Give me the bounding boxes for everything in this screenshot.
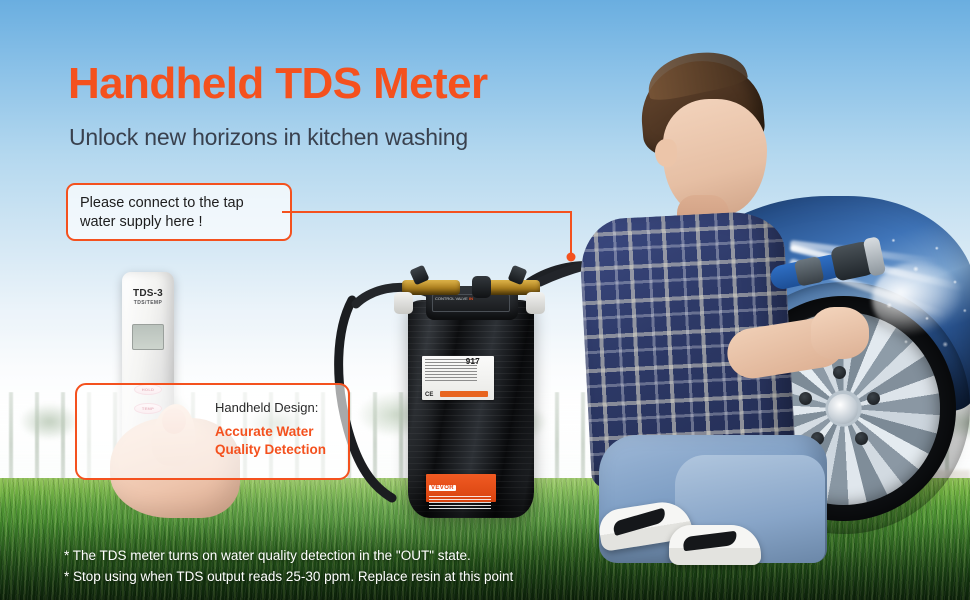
person-washing-car (585, 55, 875, 555)
footnote-line-2: * Stop using when TDS output reads 25-30… (64, 567, 513, 588)
meter-lcd-screen (132, 324, 164, 350)
meter-brand-label: TDS-3 (122, 288, 174, 299)
feature-highlight-line-2: Quality Detection (215, 441, 347, 459)
callout-line-1: Please connect to the tap (80, 194, 278, 213)
meter-model-label: TDS/TEMP (122, 300, 174, 306)
vevor-brand-text: VEVOR (429, 485, 456, 491)
feature-highlight: Accurate Water Quality Detection (215, 423, 347, 459)
feature-highlight-line-1: Accurate Water (215, 423, 347, 441)
person-hand (811, 307, 869, 359)
callout-tap-water: Please connect to the tap water supply h… (66, 183, 292, 241)
footnote-line-1: * The TDS meter turns on water quality d… (64, 546, 513, 567)
person-sneaker (669, 525, 761, 565)
feature-heading: Handheld Design: (215, 399, 347, 417)
water-softener-tank: CONTROL VALVE IN 917 CE VEVOR (408, 278, 534, 518)
hose-elbow-right (526, 292, 545, 314)
feature-handheld-design: Handheld Design: Accurate Water Quality … (75, 383, 350, 480)
person-ear (655, 139, 677, 167)
callout-line-2: water supply here ! (80, 213, 278, 232)
nozzle-collar (794, 256, 825, 287)
tank-brass-fittings (360, 262, 582, 316)
page-subtitle: Unlock new horizons in kitchen washing (69, 124, 468, 151)
tank-spec-label: 917 CE (422, 356, 494, 400)
sneaker-swoosh-icon (612, 508, 668, 536)
feature-text-block: Handheld Design: Accurate Water Quality … (215, 399, 347, 459)
hose-elbow-left (394, 292, 413, 314)
page-title: Handheld TDS Meter (68, 62, 487, 106)
sneaker-swoosh-icon (682, 531, 737, 551)
hose-fitting-center (472, 276, 491, 298)
footnotes: * The TDS meter turns on water quality d… (64, 546, 513, 587)
tank-spec-number: 917 (466, 357, 480, 366)
tank-warning-strip (440, 391, 488, 397)
vevor-sticker-text-lines (429, 495, 491, 509)
product-banner: CONTROL VALVE IN 917 CE VEVOR TDS-3 TDS (0, 0, 970, 600)
ce-mark-icon: CE (425, 392, 433, 398)
tank-vevor-sticker: VEVOR (426, 474, 496, 502)
